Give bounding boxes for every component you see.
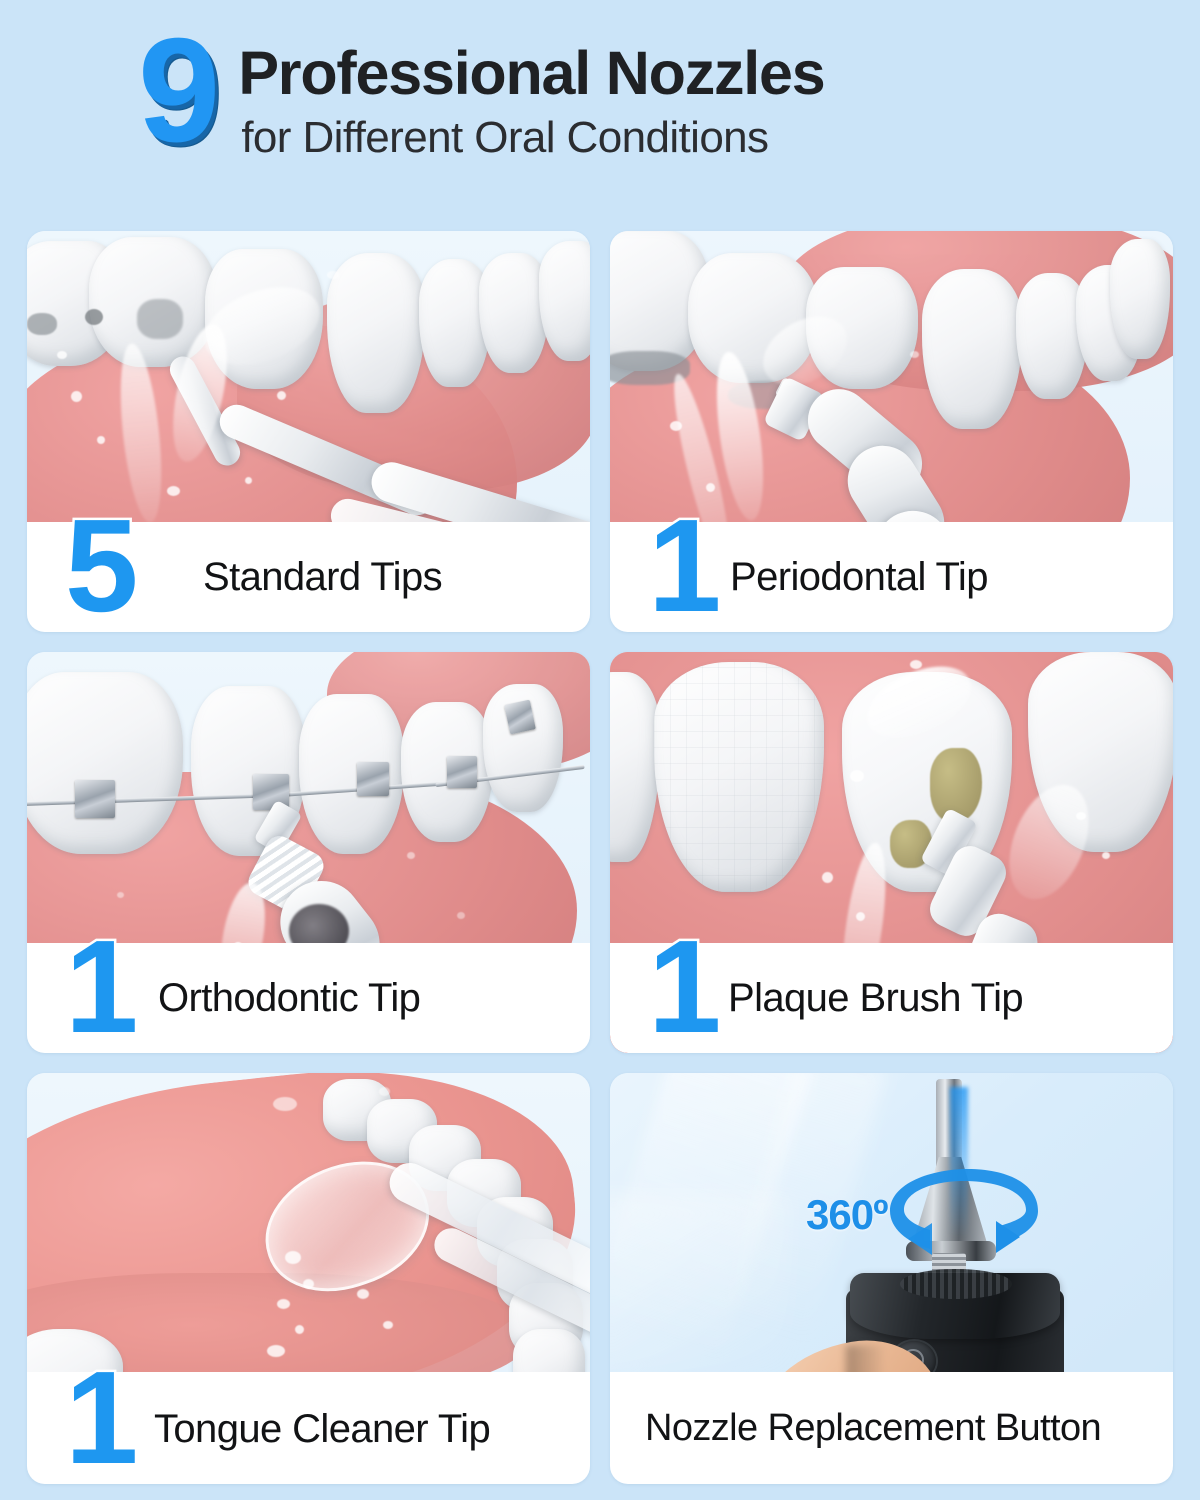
card-nozzle-replacement-button[interactable]: 360º Nozzle Replacement Button — [610, 1073, 1173, 1484]
nozzle-count-number: 9 — [138, 30, 216, 151]
card-periodontal-tip[interactable]: 1 Periodontal Tip — [610, 231, 1173, 632]
page-header: 9 Professional Nozzles for Different Ora… — [0, 0, 1200, 210]
card-orthodontic-tip[interactable]: 1 Orthodontic Tip — [27, 652, 590, 1053]
nozzle-card-grid: 5 Standard Tips — [27, 231, 1173, 1484]
card-label: Nozzle Replacement Button — [645, 1372, 1101, 1484]
page-subtitle: for Different Oral Conditions — [241, 110, 824, 165]
card-label: Plaque Brush Tip — [728, 943, 1023, 1053]
rotation-badge: 360º — [806, 1191, 887, 1239]
card-label: Periodontal Tip — [730, 522, 988, 632]
rotation-arrow-icon — [878, 1165, 1048, 1275]
header-text-block: Professional Nozzles for Different Oral … — [238, 34, 824, 165]
header-inner: 9 Professional Nozzles for Different Ora… — [138, 34, 825, 165]
card-standard-tips[interactable]: 5 Standard Tips — [27, 231, 590, 632]
page-title: Professional Nozzles — [238, 42, 824, 104]
card-label: Standard Tips — [203, 522, 442, 632]
card-tongue-cleaner-tip[interactable]: 1 Tongue Cleaner Tip — [27, 1073, 590, 1484]
card-plaque-brush-tip[interactable]: 1 Plaque Brush Tip — [610, 652, 1173, 1053]
card-label: Tongue Cleaner Tip — [154, 1374, 490, 1484]
card-label: Orthodontic Tip — [158, 943, 420, 1053]
